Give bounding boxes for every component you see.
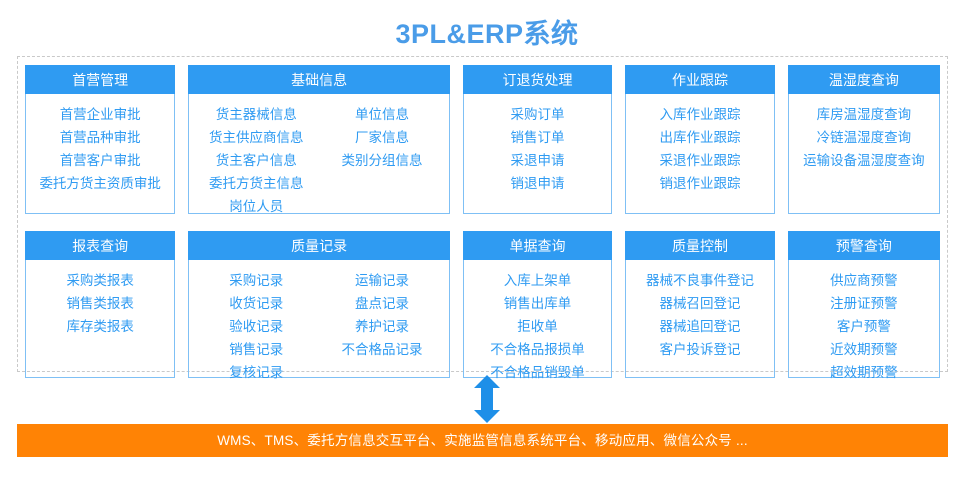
module-row-1: 首营管理首营企业审批首营品种审批首营客户审批委托方货主资质审批基础信息货主器械信… [25,65,940,214]
module-item[interactable]: 销退申请 [511,172,565,195]
module-column: 器械不良事件登记器械召回登记器械追回登记客户投诉登记 [630,269,769,369]
module-column: 采购订单销售订单采退申请销退申请 [468,103,607,205]
module-item[interactable]: 首营客户审批 [60,149,141,172]
module-header[interactable]: 订退货处理 [463,65,612,94]
module-item[interactable]: 货主器械信息 [216,103,297,126]
module-item[interactable]: 出库作业跟踪 [659,126,740,149]
module-card: 预警查询供应商预警注册证预警客户预警近效期预警超效期预警 [788,231,940,378]
module-item[interactable]: 验收记录 [229,315,283,338]
platform-bar: WMS、TMS、委托方信息交互平台、实施监管信息系统平台、移动应用、微信公众号 … [17,424,948,457]
module-item[interactable]: 货主客户信息 [216,149,297,172]
module-item[interactable]: 采退申请 [511,149,565,172]
module-item[interactable]: 类别分组信息 [341,149,422,172]
module-column: 首营企业审批首营品种审批首营客户审批委托方货主资质审批 [30,103,170,205]
module-item[interactable]: 库存类报表 [66,315,134,338]
module-header[interactable]: 作业跟踪 [625,65,774,94]
module-item[interactable]: 委托方货主资质审批 [39,172,161,195]
module-row-2: 报表查询采购类报表销售类报表库存类报表质量记录采购记录收货记录验收记录销售记录复… [25,231,940,378]
module-item[interactable]: 器械召回登记 [659,292,740,315]
module-body: 采购类报表销售类报表库存类报表 [25,260,175,378]
module-header[interactable]: 单据查询 [463,231,612,260]
module-item[interactable]: 运输设备温湿度查询 [803,149,925,172]
module-body: 首营企业审批首营品种审批首营客户审批委托方货主资质审批 [25,94,175,214]
module-item[interactable]: 不合格品记录 [341,338,422,361]
module-column: 货主器械信息货主供应商信息货主客户信息委托方货主信息岗位人员 [193,103,319,205]
module-item[interactable]: 运输记录 [355,269,409,292]
module-column: 采购记录收货记录验收记录销售记录复核记录 [193,269,319,369]
module-card: 基础信息货主器械信息货主供应商信息货主客户信息委托方货主信息岗位人员单位信息厂家… [188,65,449,214]
module-header[interactable]: 报表查询 [25,231,175,260]
module-item[interactable]: 委托方货主信息 [209,172,304,195]
modules-area: 首营管理首营企业审批首营品种审批首营客户审批委托方货主资质审批基础信息货主器械信… [17,56,948,372]
module-item[interactable]: 首营品种审批 [60,126,141,149]
module-item[interactable]: 收货记录 [229,292,283,315]
module-header[interactable]: 温湿度查询 [788,65,940,94]
module-body: 货主器械信息货主供应商信息货主客户信息委托方货主信息岗位人员单位信息厂家信息类别… [188,94,449,214]
module-item[interactable]: 岗位人员 [229,195,283,218]
module-item[interactable]: 采退作业跟踪 [659,149,740,172]
module-item[interactable]: 复核记录 [229,361,283,384]
module-body: 器械不良事件登记器械召回登记器械追回登记客户投诉登记 [625,260,774,378]
module-card: 质量控制器械不良事件登记器械召回登记器械追回登记客户投诉登记 [625,231,774,378]
module-column: 入库作业跟踪出库作业跟踪采退作业跟踪销退作业跟踪 [630,103,769,205]
module-item[interactable]: 采购记录 [229,269,283,292]
module-item[interactable]: 入库上架单 [504,269,572,292]
module-card: 订退货处理采购订单销售订单采退申请销退申请 [463,65,612,214]
module-item[interactable]: 客户投诉登记 [659,338,740,361]
module-column: 运输记录盘点记录养护记录不合格品记录 [319,269,445,369]
module-body: 供应商预警注册证预警客户预警近效期预警超效期预警 [788,260,940,378]
module-header[interactable]: 首营管理 [25,65,175,94]
module-card: 质量记录采购记录收货记录验收记录销售记录复核记录运输记录盘点记录养护记录不合格品… [188,231,449,378]
module-item[interactable]: 单位信息 [355,103,409,126]
module-column: 单位信息厂家信息类别分组信息 [319,103,445,205]
module-item[interactable]: 采购订单 [511,103,565,126]
module-column: 供应商预警注册证预警客户预警近效期预警超效期预警 [793,269,935,369]
module-column: 库房温湿度查询冷链温湿度查询运输设备温湿度查询 [793,103,935,205]
module-item[interactable]: 首营企业审批 [60,103,141,126]
module-item[interactable]: 货主供应商信息 [209,126,304,149]
module-header[interactable]: 基础信息 [188,65,449,94]
module-header[interactable]: 预警查询 [788,231,940,260]
module-item[interactable]: 厂家信息 [355,126,409,149]
module-card: 报表查询采购类报表销售类报表库存类报表 [25,231,175,378]
module-body: 入库上架单销售出库单拒收单不合格品报损单不合格品销毁单 [463,260,612,378]
module-item[interactable]: 入库作业跟踪 [659,103,740,126]
module-body: 入库作业跟踪出库作业跟踪采退作业跟踪销退作业跟踪 [625,94,774,214]
module-item[interactable]: 销售订单 [511,126,565,149]
module-item[interactable]: 销售记录 [229,338,283,361]
module-item[interactable]: 近效期预警 [830,338,898,361]
module-item[interactable]: 器械追回登记 [659,315,740,338]
module-card: 作业跟踪入库作业跟踪出库作业跟踪采退作业跟踪销退作业跟踪 [625,65,774,214]
module-item[interactable]: 养护记录 [355,315,409,338]
module-item[interactable]: 销售类报表 [66,292,134,315]
module-body: 库房温湿度查询冷链温湿度查询运输设备温湿度查询 [788,94,940,214]
module-item[interactable]: 销售出库单 [504,292,572,315]
module-header[interactable]: 质量记录 [188,231,449,260]
module-item[interactable]: 供应商预警 [830,269,898,292]
module-column: 入库上架单销售出库单拒收单不合格品报损单不合格品销毁单 [468,269,607,369]
module-item[interactable]: 超效期预警 [830,361,898,384]
module-item[interactable]: 注册证预警 [830,292,898,315]
module-item[interactable]: 拒收单 [517,315,558,338]
module-card: 单据查询入库上架单销售出库单拒收单不合格品报损单不合格品销毁单 [463,231,612,378]
page-title: 3PL&ERP系统 [0,0,974,51]
module-item[interactable]: 库房温湿度查询 [817,103,912,126]
module-item[interactable]: 冷链温湿度查询 [817,126,912,149]
module-card: 首营管理首营企业审批首营品种审批首营客户审批委托方货主资质审批 [25,65,175,214]
bidirectional-arrow-icon [474,375,500,423]
module-item[interactable]: 不合格品报损单 [490,338,585,361]
module-item[interactable]: 客户预警 [837,315,891,338]
module-body: 采购订单销售订单采退申请销退申请 [463,94,612,214]
module-card: 温湿度查询库房温湿度查询冷链温湿度查询运输设备温湿度查询 [788,65,940,214]
module-header[interactable]: 质量控制 [625,231,774,260]
module-item[interactable]: 盘点记录 [355,292,409,315]
module-item[interactable]: 不合格品销毁单 [490,361,585,384]
module-body: 采购记录收货记录验收记录销售记录复核记录运输记录盘点记录养护记录不合格品记录 [188,260,449,378]
module-item[interactable]: 器械不良事件登记 [646,269,754,292]
module-item[interactable]: 采购类报表 [66,269,134,292]
module-item[interactable]: 销退作业跟踪 [659,172,740,195]
module-column: 采购类报表销售类报表库存类报表 [30,269,170,369]
